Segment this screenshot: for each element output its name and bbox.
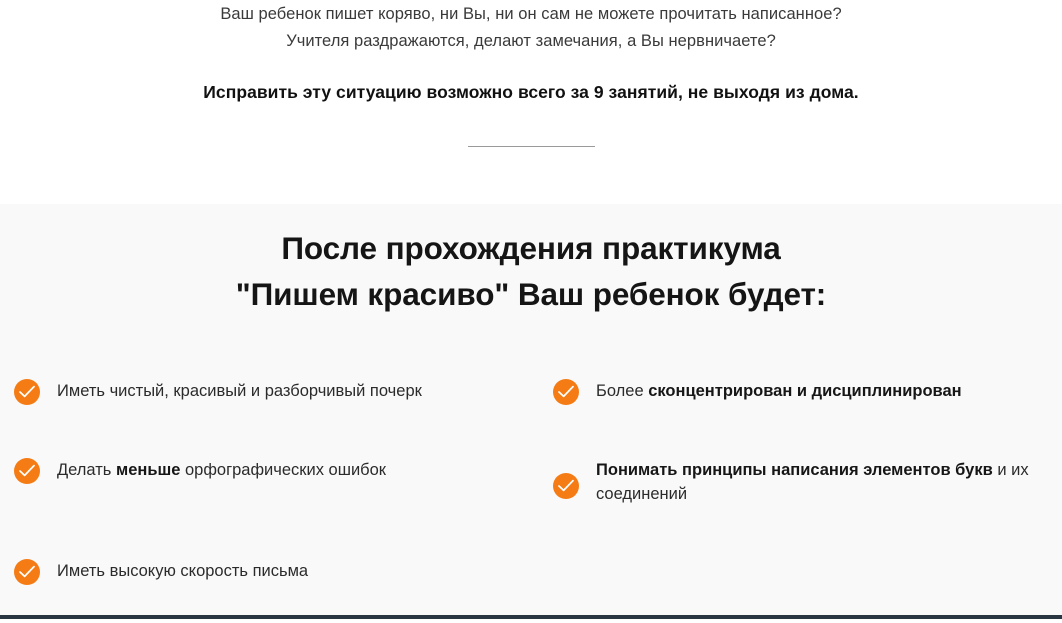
benefit-text: Иметь высокую скорость письма [57, 559, 308, 583]
benefit-list-item: Понимать принципы написания элементов бу… [0, 453, 1062, 554]
intro-emphasis-text: Исправить эту ситуацию возможно всего за… [0, 82, 1062, 103]
benefit-text-plain-before: Иметь высокую скорость письма [57, 562, 308, 580]
intro-line-2: Учителя раздражаются, делают замечания, … [0, 28, 1062, 55]
benefit-text-bold: Понимать принципы написания элементов бу… [596, 461, 993, 479]
benefits-grid: Иметь чистый, красивый и разборчивый поч… [0, 374, 1062, 614]
benefit-list-item: Более сконцентрирован и дисциплинирован [0, 374, 1062, 453]
check-circle-icon [14, 559, 40, 585]
intro-line-1: Ваш ребенок пишет коряво, ни Вы, ни он с… [0, 1, 1062, 28]
landing-page: Ваш ребенок пишет коряво, ни Вы, ни он с… [0, 0, 1062, 623]
benefit-list-item: Иметь высокую скорость письма [0, 554, 531, 614]
horizontal-rule-divider [468, 146, 595, 147]
check-circle-icon [553, 379, 579, 405]
divider-wrapper [0, 146, 1062, 147]
benefits-heading: После прохождения практикума "Пишем крас… [0, 225, 1062, 317]
next-section-peek-strip [0, 615, 1062, 619]
check-circle-icon [14, 379, 40, 405]
benefit-text: Понимать принципы написания элементов бу… [596, 458, 1062, 506]
intro-section: Ваш ребенок пишет коряво, ни Вы, ни он с… [0, 0, 1062, 204]
check-circle-icon [14, 458, 40, 484]
benefit-text: Более сконцентрирован и дисциплинирован [596, 379, 962, 403]
benefits-heading-line-1: После прохождения практикума [281, 230, 780, 266]
benefit-text-plain-before: Более [596, 382, 648, 400]
benefits-section: После прохождения практикума "Пишем крас… [0, 204, 1062, 619]
benefits-heading-line-2: "Пишем красиво" Ваш ребенок будет: [236, 276, 826, 312]
benefit-text-bold: сконцентрирован и дисциплинирован [648, 382, 961, 400]
intro-question-block: Ваш ребенок пишет коряво, ни Вы, ни он с… [0, 0, 1062, 55]
benefits-right-column: Более сконцентрирован и дисциплинирован … [531, 374, 1062, 614]
check-circle-icon [553, 473, 579, 499]
